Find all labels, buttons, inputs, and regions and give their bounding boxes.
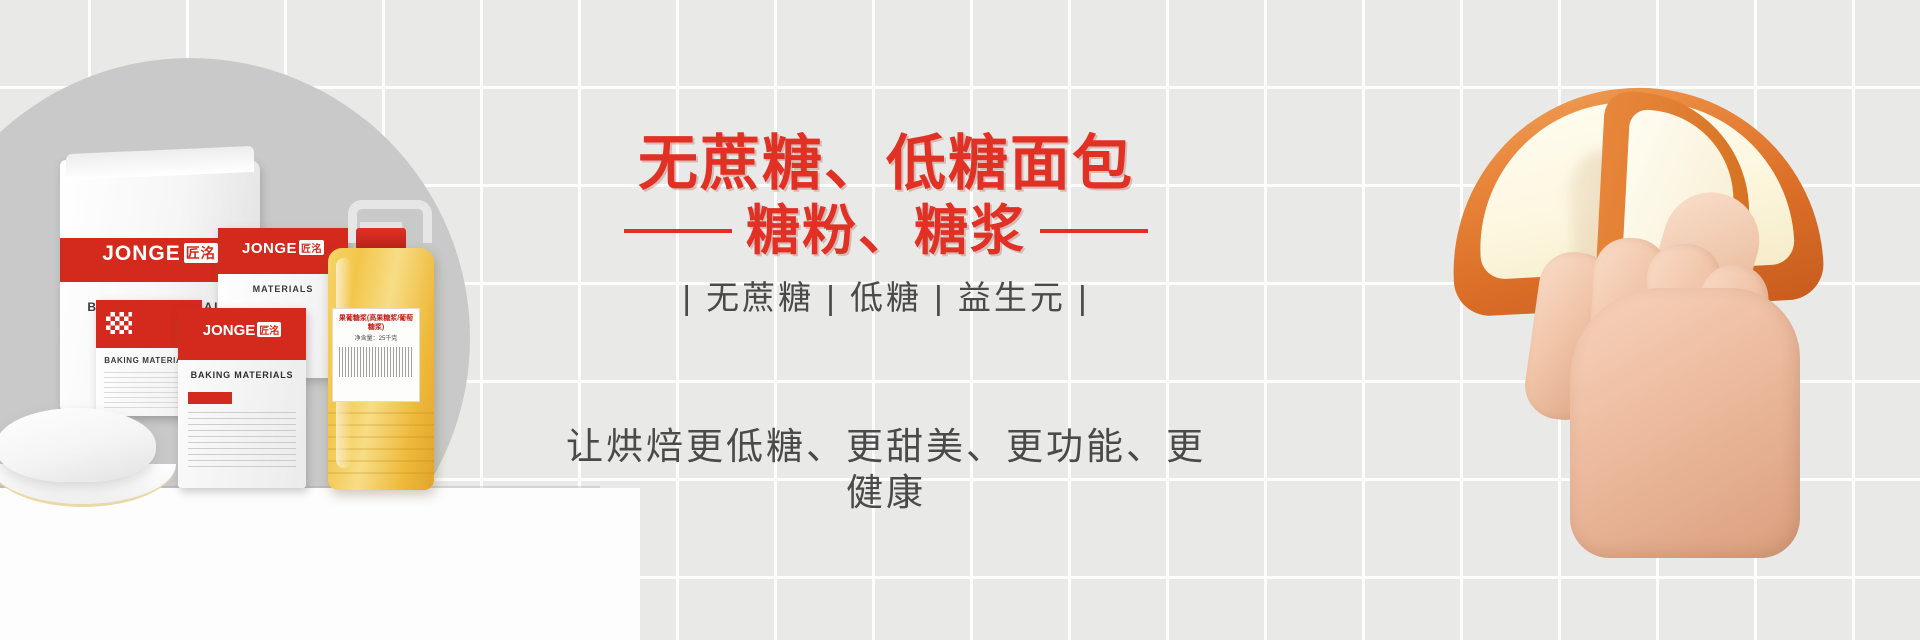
brand-name-cn: 匠洺 <box>299 240 324 255</box>
headline-line-2-row: 糖粉、糖浆 <box>556 202 1216 260</box>
jug-label-spec: 净含量：25千克 <box>337 335 415 343</box>
bread-photo <box>1400 58 1920 558</box>
checker-pattern-icon <box>106 312 132 334</box>
jug-label-barcode <box>339 347 413 377</box>
hand-palm <box>1570 288 1800 558</box>
headline-line-2: 糖粉、糖浆 <box>746 202 1026 260</box>
jug-label: 果葡糖浆(高果糖浆/葡萄糖浆) 净含量：25千克 <box>332 308 420 402</box>
bag-fold <box>66 146 254 180</box>
jug-ribs <box>328 412 434 482</box>
sachet-category-label: BAKING MATERIALS <box>178 370 306 380</box>
brand-name: JONGE <box>203 322 256 339</box>
brand-name: JONGE <box>242 240 297 257</box>
headline-line-1: 无蔗糖、低糖面包 <box>556 132 1216 196</box>
sachet-text-lines <box>188 412 296 470</box>
jug-label-title: 果葡糖浆(高果糖浆/葡萄糖浆) <box>337 314 415 332</box>
promo-banner: JONGE匠洺 BAKING MATERIALS Shandong Jonge … <box>0 0 1920 640</box>
jug-cap <box>356 228 406 250</box>
product-sachet: JONGE匠洺 BAKING MATERIALS <box>178 308 306 488</box>
sugar-powder-mound <box>0 408 156 482</box>
headline-rule-right <box>1040 229 1148 233</box>
brand-name: JONGE <box>102 242 181 265</box>
sachet-red-tag <box>188 392 232 404</box>
tagline: 让烘焙更低糖、更甜美、更功能、更健康 <box>556 424 1216 516</box>
product-cluster: JONGE匠洺 BAKING MATERIALS Shandong Jonge … <box>0 0 640 640</box>
powder-bowl <box>0 408 180 508</box>
feature-keywords: | 无蔗糖 | 低糖 | 益生元 | <box>556 278 1216 318</box>
headline-rule-left <box>624 229 732 233</box>
brand-name-cn: 匠洺 <box>257 322 281 337</box>
sachet-brand-logo: JONGE匠洺 <box>178 322 306 339</box>
banner-copy: 无蔗糖、低糖面包 糖粉、糖浆 | 无蔗糖 | 低糖 | 益生元 | 让烘焙更低糖… <box>556 0 1216 640</box>
product-syrup-jug: 果葡糖浆(高果糖浆/葡萄糖浆) 净含量：25千克 <box>322 200 440 490</box>
hand <box>1420 178 1840 558</box>
brand-name-cn: 匠洺 <box>184 243 218 263</box>
